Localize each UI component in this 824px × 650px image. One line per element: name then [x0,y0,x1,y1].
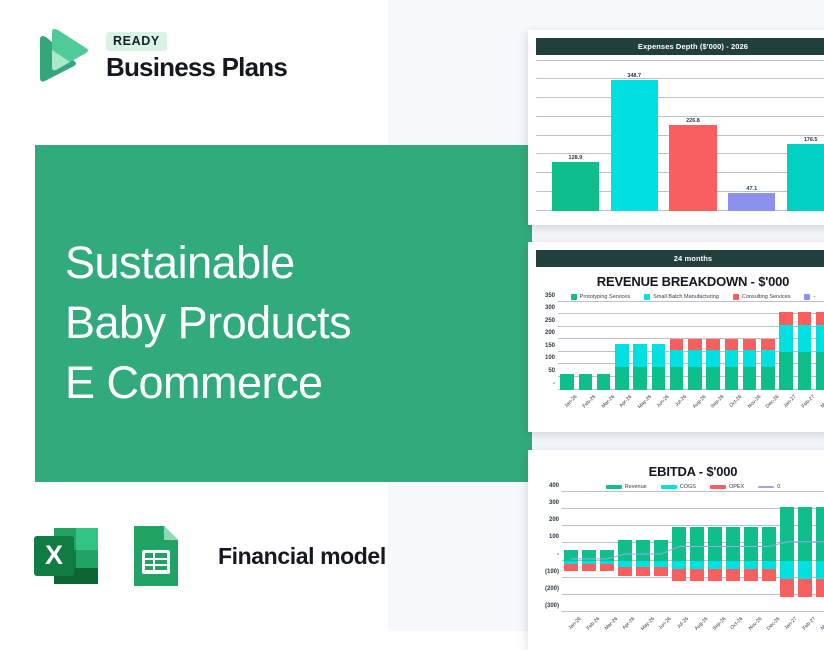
bar-segment [798,507,811,560]
footer-label: Financial model [218,543,386,570]
poster-canvas: READY Business Plans Sustainable Baby Pr… [0,0,824,631]
bar-column [761,302,775,390]
bar-column: 348.7 [611,61,658,211]
legend-item: Prototyping Services [571,294,630,300]
ytick-label: 100 [549,534,562,540]
legend-item: Consulting Services [733,294,791,300]
bar-segment [600,564,613,571]
ytick-label: 100 [545,355,558,361]
google-sheets-icon [120,520,192,592]
bar-segment [726,527,739,560]
bar-segment [798,561,811,579]
bar-segment [816,507,824,560]
bar-segment [816,312,824,326]
bar-segment [564,564,577,571]
legend-label: - [813,294,815,300]
bar-column [600,492,613,612]
bar-segment [597,374,611,390]
bar-segment [725,339,739,350]
bar-segment [816,561,824,579]
bar-column [743,302,757,390]
bar-column [615,302,629,390]
bar-segment [706,367,720,389]
bar-column [744,492,757,612]
bar-column [579,302,593,390]
bar-segment [688,339,702,350]
microsoft-excel-icon: X [30,520,102,592]
bar-segment [761,367,775,389]
bar-segment [564,550,577,561]
bar [611,80,658,211]
bar-column [582,492,595,612]
bar-column: 128.9 [552,61,599,211]
bar-column [725,302,739,390]
chart-plot-expenses: 128.9348.7226.847.1176.5 [536,61,824,211]
ytick-label: 250 [545,318,558,324]
ytick-label: 300 [545,305,558,311]
chart-title-revenue: REVENUE BREAKDOWN - $'000 [528,267,824,291]
bar-segment [798,325,812,351]
xlabel-cell: Jan-26 [562,613,580,639]
bar-column [798,302,812,390]
bar-value-label: 226.8 [686,118,700,124]
bar-segment [798,579,811,598]
bar-segment [798,312,812,326]
footer-row: X Financial model [30,520,386,592]
bar-segment [743,350,757,368]
bar-segment [708,561,721,569]
bar-segment [618,540,631,561]
bar-segment [618,567,631,576]
bar-value-label: 128.9 [569,155,583,161]
bar-segment [725,367,739,389]
bar-segment [762,561,775,569]
ytick-label: (100) [545,569,562,575]
bar-segment [672,569,685,581]
bar-segment [744,561,757,569]
legend-swatch [661,485,677,489]
hero-block: Sustainable Baby Products E Commerce [35,145,532,482]
legend-swatch [606,485,622,489]
legend-swatch [571,294,577,300]
ytick-label: 50 [548,368,558,374]
bar-segment [633,344,647,367]
bar-segment [744,569,757,581]
bar-segment [636,540,649,561]
bar-segment [725,350,739,368]
bar-segment [780,579,793,598]
bar-column [726,492,739,612]
bar-segment [708,569,721,581]
legend-label: Prototyping Services [580,294,630,300]
ytick-label: 200 [545,330,558,336]
chart-card-expenses-depth: Expenses Depth ($'000) - 2026 128.9348.7… [528,30,824,225]
ytick-label: 150 [545,343,558,349]
bar-column [708,492,721,612]
bar-value-label: 176.5 [804,137,818,143]
xlabel-cell: Jan-26 [558,391,576,417]
bar-segment [761,350,775,368]
bar [787,144,824,210]
bar-column: 47.1 [728,61,775,211]
bar-segment [726,569,739,581]
bar-segment [560,374,574,390]
bar-segment [690,527,703,560]
bar-segment [615,367,629,389]
legend-swatch [733,294,739,300]
chart-banner-24-months: 24 months [536,250,824,267]
bar-column [560,302,574,390]
bar-column [670,302,684,390]
legend-label: Revenue [625,484,647,490]
legend-item: 0 [758,484,780,490]
legend-item: Revenue [606,484,647,490]
bar-segment [743,367,757,389]
chart-card-revenue-breakdown: 24 months REVENUE BREAKDOWN - $'000 Prot… [528,242,824,432]
legend-swatch [758,486,774,488]
bar-value-label: 47.1 [746,186,757,192]
bar-segment [654,540,667,561]
bar-segment [600,550,613,561]
bar-group [562,492,824,612]
chart-xaxis-revenue: Jan-26Feb-26Mar-26Apr-26May-26Jun-26Jul-… [558,391,824,417]
bar-segment [762,527,775,560]
bar-segment [615,344,629,367]
legend-label: COGS [680,484,696,490]
bar-group [558,302,824,390]
bar-segment [688,350,702,368]
bar-segment [798,352,812,390]
bar-segment [582,550,595,561]
bar-column [636,492,649,612]
legend-label: 0 [777,484,780,490]
bar-segment [633,367,647,389]
bar-column [816,302,824,390]
bar-segment [779,325,793,351]
bar-segment [690,569,703,581]
legend-label: OPEX [729,484,744,490]
bar-column [652,302,666,390]
bar-column [688,302,702,390]
bar-segment [652,344,666,367]
bar-group: 128.9348.7226.847.1176.5 [536,61,824,211]
bar-segment [761,339,775,350]
ytick-label: (200) [545,586,562,592]
bar-column [597,302,611,390]
bar-segment [690,561,703,569]
bar-column [633,302,647,390]
page-title: Sustainable Baby Products E Commerce [65,233,351,413]
bar-segment [582,564,595,571]
bar-column [706,302,720,390]
bar-column [779,302,793,390]
bar [552,162,599,210]
bar-value-label: 348.7 [627,73,641,79]
legend-item: COGS [661,484,696,490]
legend-swatch [710,485,726,489]
ytick-label: 200 [549,517,562,523]
chart-title-expenses: Expenses Depth ($'000) - 2026 [536,38,824,55]
chart-plot-revenue: 35030025020015010050- [558,302,824,390]
bar-column [564,492,577,612]
bar-column [816,492,824,612]
ytick-label: (300) [545,603,562,609]
chart-plot-ebitda: 400300200100-(100)(200)(300) [562,492,824,612]
bar-column [798,492,811,612]
bar-segment [762,569,775,581]
bar-segment [816,579,824,598]
bar-segment [672,561,685,569]
bar-segment [672,527,685,560]
bar [669,125,716,210]
legend-label: Consulting Services [742,294,791,300]
brand-name: Business Plans [106,54,287,81]
bar-segment [779,312,793,326]
bar-column [780,492,793,612]
bar-column [672,492,685,612]
legend-item: Small Batch Manufacturing [644,294,719,300]
bar-segment [706,339,720,350]
legend-swatch [644,294,650,300]
ytick-label: 300 [549,500,562,506]
bar-segment [652,367,666,389]
svg-text:X: X [45,540,63,570]
ready-badge: READY [106,32,167,51]
bar-segment [706,350,720,368]
bar-column: 226.8 [669,61,716,211]
bar-segment [780,507,793,560]
bar-column [618,492,631,612]
ytick-label: 400 [549,483,562,489]
bar-segment [636,567,649,576]
bar-segment [779,352,793,390]
chart-xaxis-ebitda: Jan-26Feb-26Mar-26Apr-26May-26Jun-26Jul-… [562,613,824,639]
bar-segment [579,374,593,390]
bar-column: 176.5 [787,61,824,211]
play-triangle-logo-icon [30,26,92,88]
bar-column [762,492,775,612]
brand-lockup: READY Business Plans [30,26,287,88]
chart-title-ebitda: EBITDA - $'000 [528,450,824,481]
legend-item: - [804,294,815,300]
legend-label: Small Batch Manufacturing [653,294,719,300]
bar-segment [688,367,702,389]
legend-item: OPEX [710,484,744,490]
bar-segment [708,527,721,560]
bar-segment [726,561,739,569]
bar-segment [670,367,684,389]
bar-segment [780,561,793,579]
bar-segment [654,567,667,576]
bar-segment [816,325,824,351]
bar-column [654,492,667,612]
legend-swatch [804,294,810,300]
bar-segment [744,527,757,560]
bar-segment [743,339,757,350]
ytick-label: 350 [545,293,558,299]
chart-card-ebitda: EBITDA - $'000 RevenueCOGSOPEX0 40030020… [528,450,824,650]
bar-segment [816,352,824,390]
bar-column [690,492,703,612]
bar-segment [670,350,684,368]
bar [728,193,775,211]
bar-segment [670,339,684,350]
